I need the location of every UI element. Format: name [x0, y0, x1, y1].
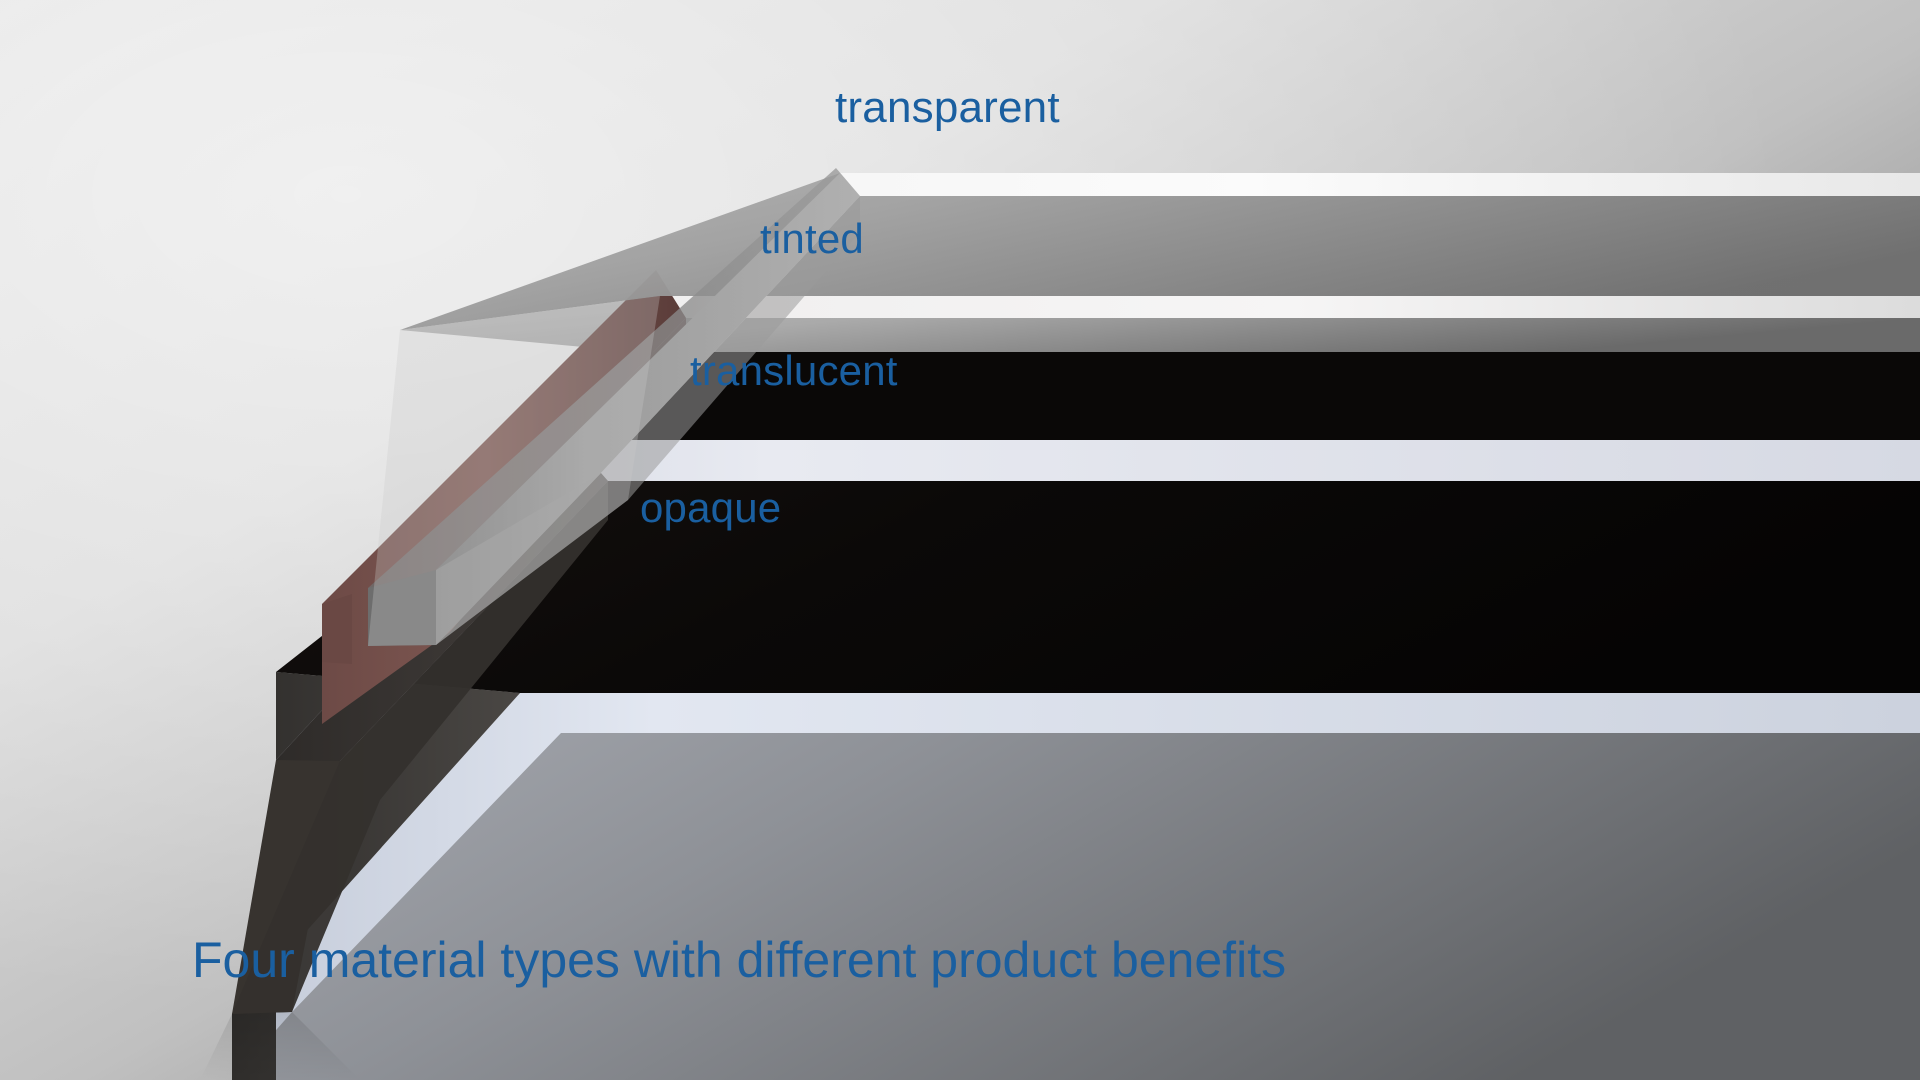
label-tinted: tinted	[760, 218, 864, 260]
label-translucent: translucent	[690, 350, 898, 392]
tinted-left-cap	[322, 594, 352, 664]
label-transparent: transparent	[835, 86, 1060, 130]
material-stack	[0, 0, 1920, 1080]
label-opaque: opaque	[640, 487, 781, 529]
scene-root: transparent tinted translucent opaque Fo…	[0, 0, 1920, 1080]
caption-text: Four material types with different produ…	[192, 935, 1286, 985]
layer-opaque	[232, 672, 1920, 1080]
